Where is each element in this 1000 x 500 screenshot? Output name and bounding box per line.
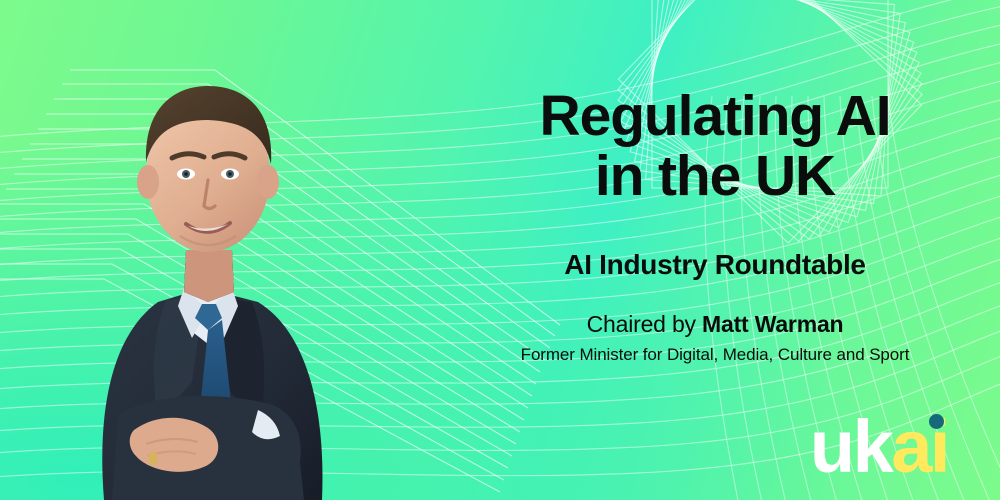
logo-text-ai: ai bbox=[891, 410, 948, 484]
chair-prefix: Chaired by bbox=[587, 311, 702, 337]
chair-role: Former Minister for Digital, Media, Cult… bbox=[521, 338, 910, 365]
logo-text-uk: uk bbox=[810, 410, 891, 484]
chair-name: Matt Warman bbox=[702, 311, 843, 337]
event-banner: Regulating AI in the UK AI Industry Roun… bbox=[0, 0, 1000, 500]
event-subtitle: AI Industry Roundtable bbox=[564, 207, 865, 281]
ukai-logo[interactable]: uk ai bbox=[810, 410, 948, 484]
page-title: Regulating AI in the UK bbox=[540, 86, 891, 207]
chair-credit: Chaired by Matt Warman bbox=[587, 281, 844, 338]
logo-dot-icon bbox=[929, 414, 944, 429]
